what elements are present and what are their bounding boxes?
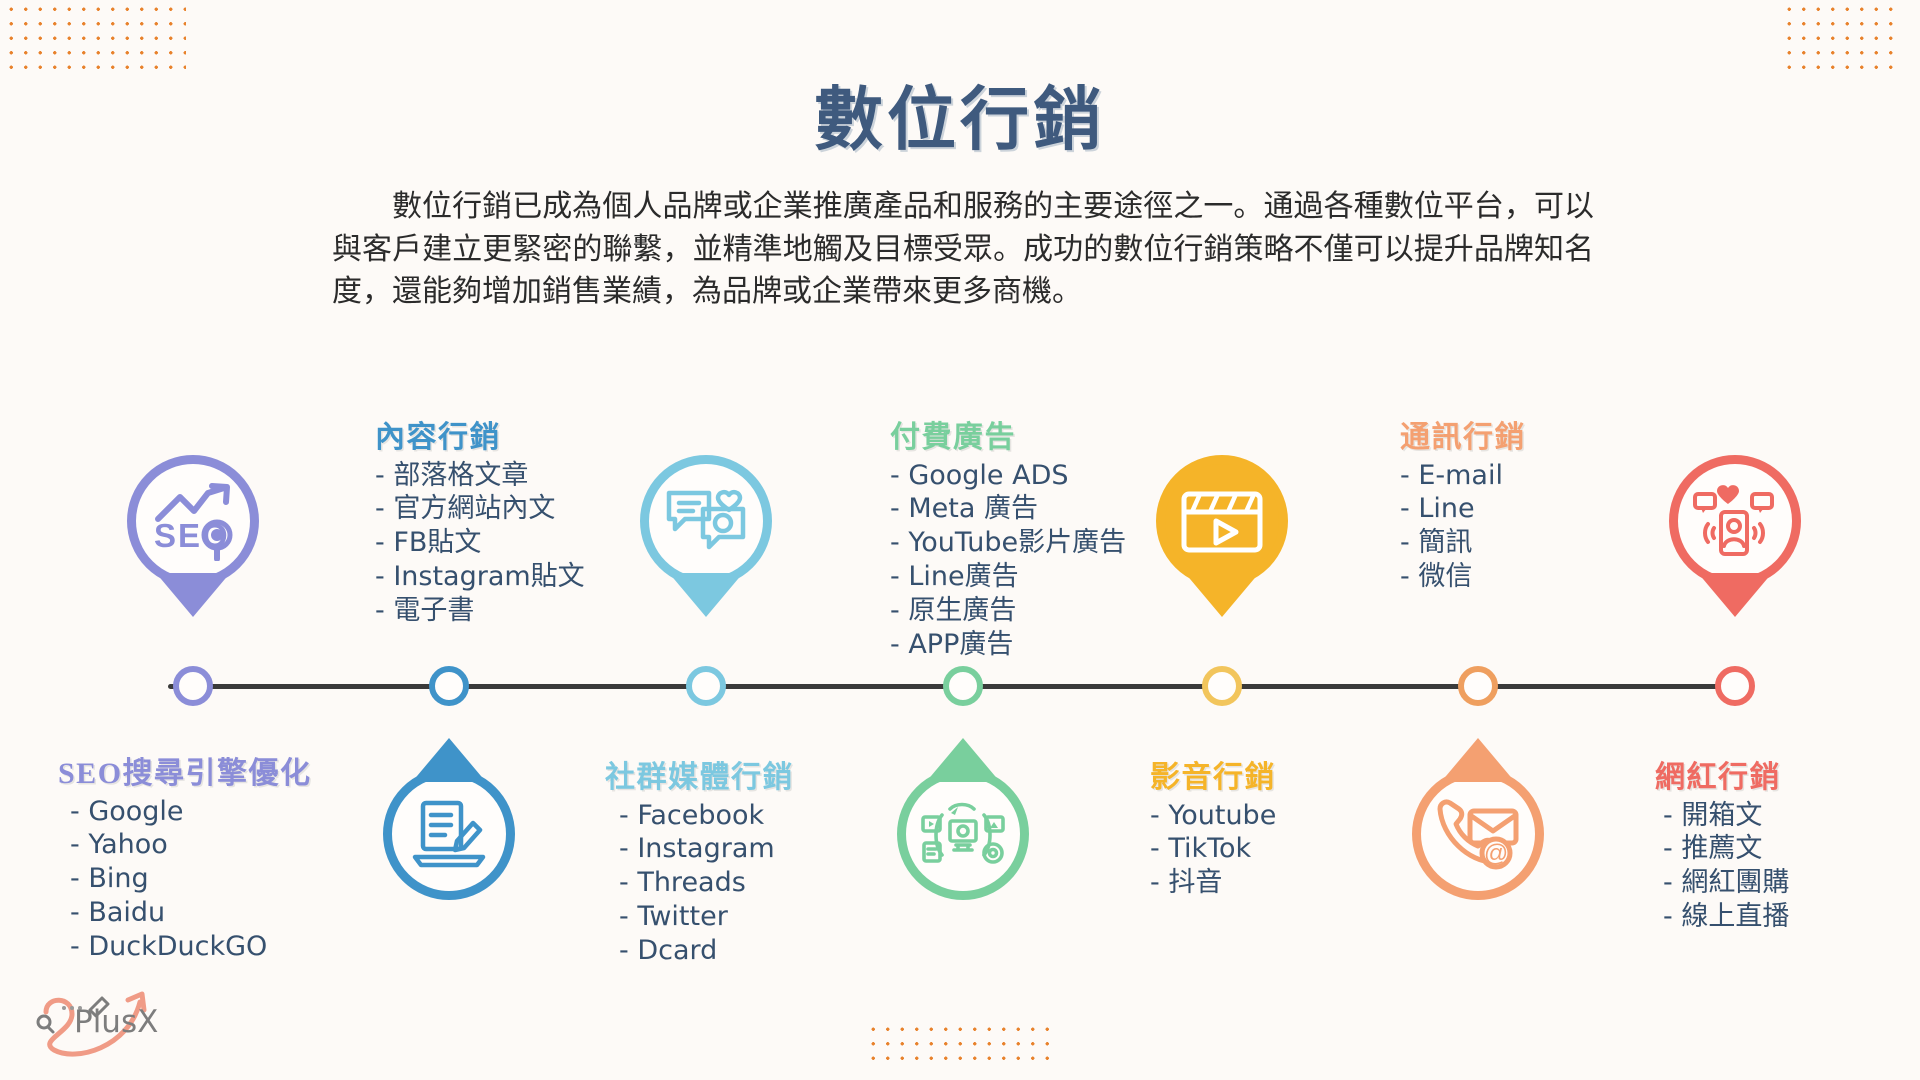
item-influencer: 網紅行銷 - 開箱文 - 推薦文 - 網紅團購 - 線上直播 <box>1655 752 1789 935</box>
list-item: - 開箱文 <box>1663 799 1789 833</box>
social-pin-icon <box>640 455 772 587</box>
item-video-heading: 影音行銷 <box>1150 752 1276 796</box>
list-item: - Google ADS <box>890 459 1126 493</box>
video-pin-icon <box>1156 455 1288 587</box>
list-item: - 部落格文章 <box>375 459 585 493</box>
list-item: - Baidu <box>70 897 312 931</box>
logo-text: PlusX <box>74 1004 158 1040</box>
paid-ads-pin-icon <box>897 768 1029 900</box>
ads-network-icon <box>897 768 1029 900</box>
timeline-node-social <box>686 666 726 706</box>
chat-bubbles-icon <box>640 455 772 587</box>
phone-email-icon: @ <box>1412 768 1544 900</box>
page-title: 數位行銷 <box>0 63 1920 163</box>
list-item: - Line廣告 <box>890 561 1126 595</box>
list-item: - 推薦文 <box>1663 833 1789 867</box>
item-video: 影音行銷 - Youtube - TikTok - 抖音 <box>1150 752 1276 901</box>
timeline-node-influencer <box>1715 666 1755 706</box>
timeline-node-seo <box>173 666 213 706</box>
list-item: - 官方網站內文 <box>375 493 585 527</box>
list-item: - Twitter <box>619 901 794 935</box>
timeline-node-video <box>1202 666 1242 706</box>
list-item: - APP廣告 <box>890 628 1126 662</box>
item-messaging: 通訊行銷 - E-mail - Line - 簡訊 - 微信 <box>1400 412 1526 595</box>
list-item: - Threads <box>619 867 794 901</box>
list-item: - 電子書 <box>375 595 585 629</box>
list-item: - Line <box>1400 493 1526 527</box>
list-item: - E-mail <box>1400 459 1526 493</box>
item-seo-heading: SEO搜尋引擎優化 <box>58 748 312 792</box>
list-item: - Youtube <box>1150 799 1276 833</box>
list-item: - Instagram貼文 <box>375 561 585 595</box>
item-messaging-list: - E-mail - Line - 簡訊 - 微信 <box>1400 459 1526 595</box>
influencer-phone-icon <box>1669 455 1801 587</box>
list-item: - 簡訊 <box>1400 527 1526 561</box>
list-item: - 原生廣告 <box>890 595 1126 629</box>
list-item: - Dcard <box>619 935 794 969</box>
item-content: 內容行銷 - 部落格文章 - 官方網站內文 - FB貼文 - Instagram… <box>375 412 585 628</box>
item-content-list: - 部落格文章 - 官方網站內文 - FB貼文 - Instagram貼文 - … <box>375 459 585 628</box>
list-item: - Meta 廣告 <box>890 493 1126 527</box>
intro-paragraph: 數位行銷已成為個人品牌或企業推廣產品和服務的主要途徑之一。通過各種數位平台，可以… <box>332 186 1594 314</box>
item-social: 社群媒體行銷 - Facebook - Instagram - Threads … <box>605 752 794 968</box>
list-item: - DuckDuckGO <box>70 931 312 965</box>
item-influencer-list: - 開箱文 - 推薦文 - 網紅團購 - 線上直播 <box>1655 799 1789 935</box>
item-video-list: - Youtube - TikTok - 抖音 <box>1150 799 1276 901</box>
content-pin-icon <box>383 768 515 900</box>
list-item: - FB貼文 <box>375 527 585 561</box>
item-seo-list: - Google - Yahoo - Bing - Baidu - DuckDu… <box>58 795 312 964</box>
seo-pin-icon: SEO <box>127 455 259 587</box>
list-item: - Facebook <box>619 799 794 833</box>
item-social-list: - Facebook - Instagram - Threads - Twitt… <box>605 799 794 968</box>
list-item: - Bing <box>70 863 312 897</box>
item-paid-ads-heading: 付費廣告 <box>890 412 1126 456</box>
decorative-dots-top-right <box>1782 2 1902 72</box>
timeline-node-paid-ads <box>943 666 983 706</box>
brand-logo: PlusX <box>24 984 164 1058</box>
list-item: - Instagram <box>619 833 794 867</box>
video-player-icon <box>1156 455 1288 587</box>
item-seo: SEO搜尋引擎優化 - Google - Yahoo - Bing - Baid… <box>58 748 312 964</box>
influencer-pin-icon <box>1669 455 1801 587</box>
item-messaging-heading: 通訊行銷 <box>1400 412 1526 456</box>
list-item: - Yahoo <box>70 829 312 863</box>
item-paid-ads: 付費廣告 - Google ADS - Meta 廣告 - YouTube影片廣… <box>890 412 1126 662</box>
item-content-heading: 內容行銷 <box>375 412 585 456</box>
seo-chart-icon: SEO <box>127 455 259 587</box>
timeline-node-content <box>429 666 469 706</box>
item-social-heading: 社群媒體行銷 <box>605 752 794 796</box>
infographic-canvas: 數位行銷 數位行銷已成為個人品牌或企業推廣產品和服務的主要途徑之一。通過各種數位… <box>0 0 1920 1080</box>
messaging-pin-icon: @ <box>1412 768 1544 900</box>
list-item: - TikTok <box>1150 833 1276 867</box>
decorative-dots-bottom-center <box>866 1022 1056 1070</box>
list-item: - 抖音 <box>1150 867 1276 901</box>
list-item: - 線上直播 <box>1663 901 1789 935</box>
item-paid-ads-list: - Google ADS - Meta 廣告 - YouTube影片廣告 - L… <box>890 459 1126 662</box>
svg-text:@: @ <box>1484 840 1508 867</box>
timeline-node-messaging <box>1458 666 1498 706</box>
list-item: - YouTube影片廣告 <box>890 527 1126 561</box>
list-item: - 微信 <box>1400 561 1526 595</box>
item-influencer-heading: 網紅行銷 <box>1655 752 1789 796</box>
list-item: - 網紅團購 <box>1663 867 1789 901</box>
document-laptop-icon <box>383 768 515 900</box>
list-item: - Google <box>70 795 312 829</box>
